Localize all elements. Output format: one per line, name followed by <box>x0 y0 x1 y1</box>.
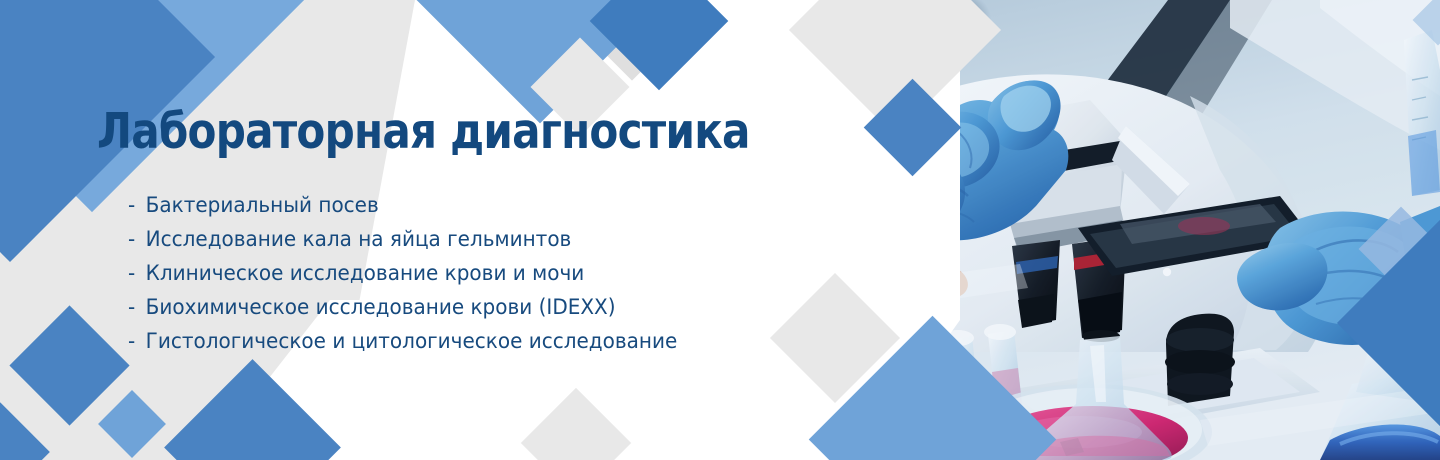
dash-marker: - <box>128 257 146 291</box>
list-item-label: Исследование кала на яйца гельминтов <box>146 227 572 252</box>
list-item-label: Биохимическое исследование крови (IDEXX) <box>146 295 616 320</box>
list-item-label: Гистологическое и цитологическое исследо… <box>146 329 678 354</box>
list-item: -Биохимическое исследование крови (IDEXX… <box>128 291 677 325</box>
dash-marker: - <box>128 325 146 359</box>
list-item-label: Клиническое исследование крови и мочи <box>146 261 585 286</box>
dash-marker: - <box>128 223 146 257</box>
dash-marker: - <box>128 291 146 325</box>
lab-diagnostics-banner: Лабораторная диагностика -Бактериальный … <box>0 0 1440 460</box>
list-item: -Исследование кала на яйца гельминтов <box>128 223 677 257</box>
list-item: -Клиническое исследование крови и мочи <box>128 257 677 291</box>
list-item: -Гистологическое и цитологическое исслед… <box>128 325 677 359</box>
list-item: -Бактериальный посев <box>128 189 677 223</box>
page-title: Лабораторная диагностика <box>97 107 750 156</box>
services-list: -Бактериальный посев -Исследование кала … <box>128 189 719 359</box>
list-item-label: Бактериальный посев <box>146 193 379 218</box>
dash-marker: - <box>128 189 146 223</box>
